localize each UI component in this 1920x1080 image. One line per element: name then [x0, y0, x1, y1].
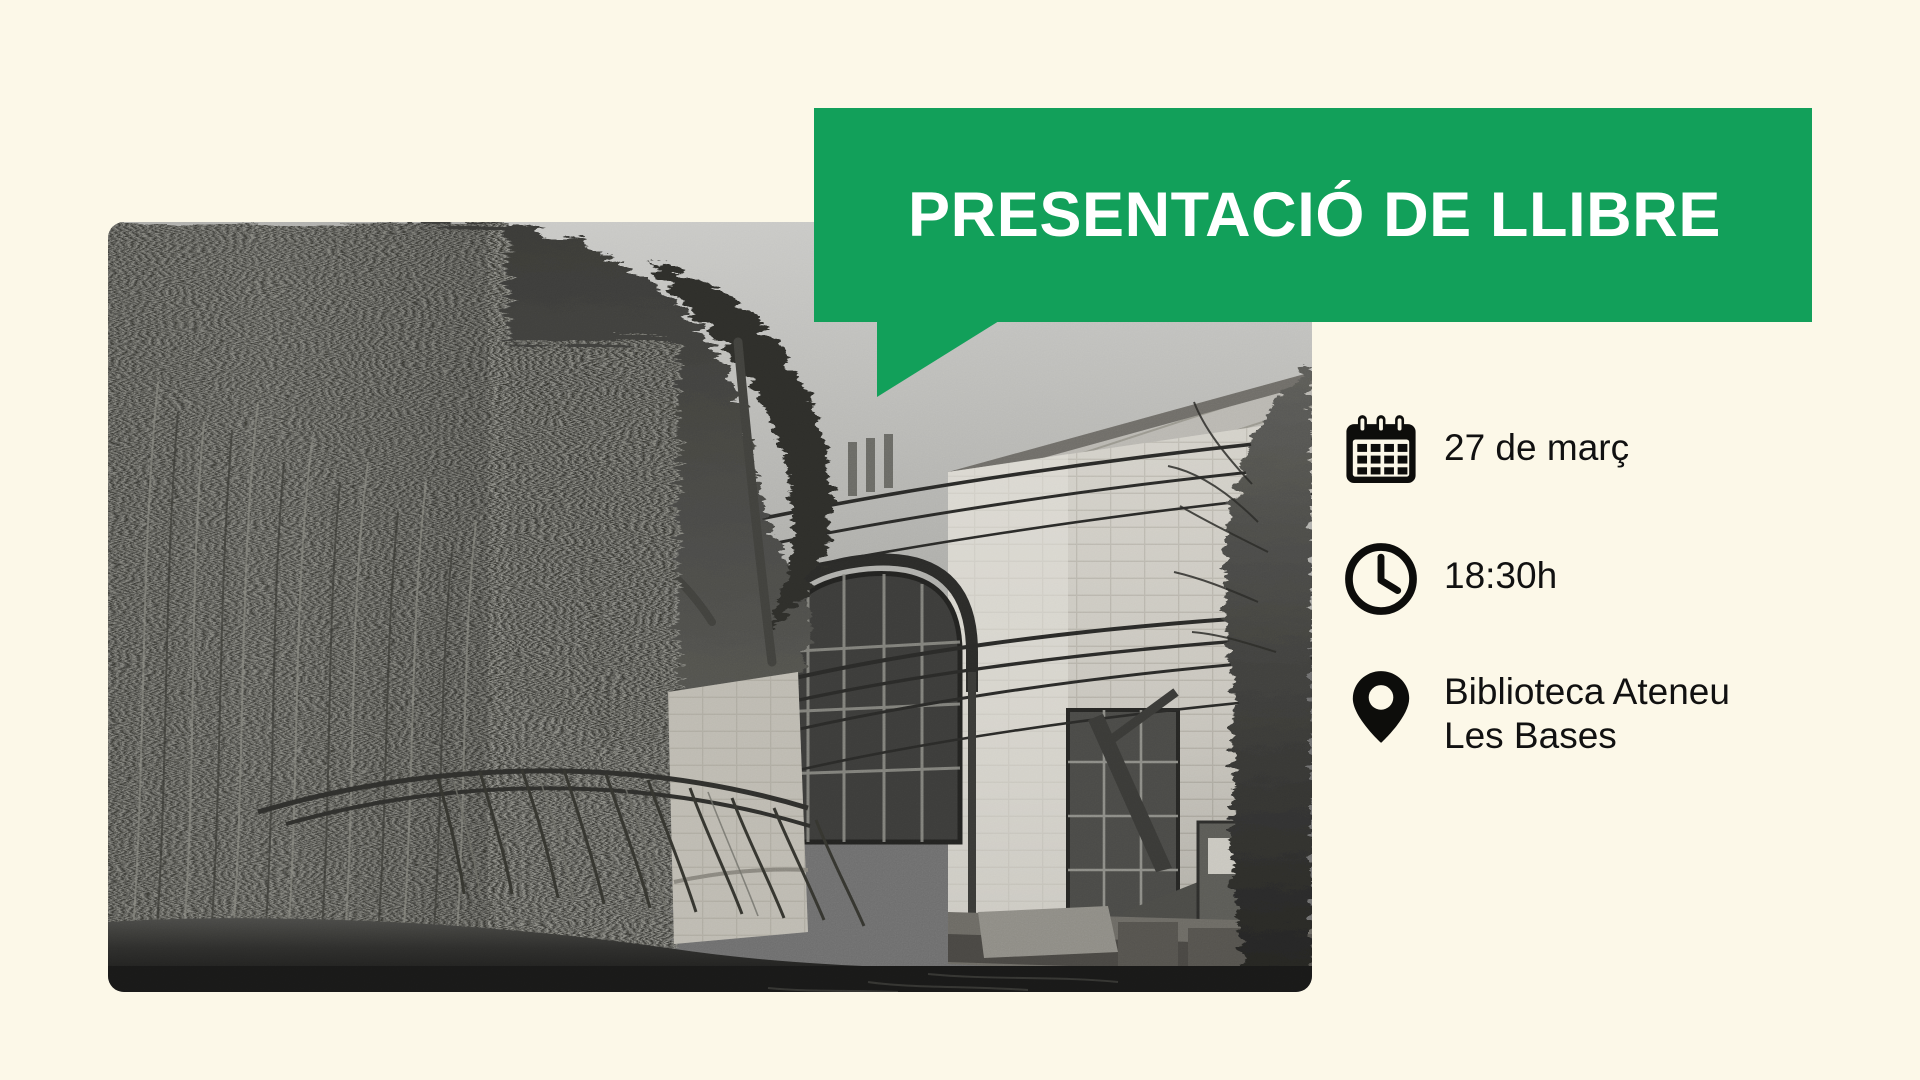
calendar-icon — [1340, 408, 1426, 494]
photo-illustration — [108, 222, 1312, 992]
detail-row-date: 27 de març — [1340, 408, 1860, 494]
page-title: PRESENTACIÓ DE LLIBRE — [908, 184, 1721, 247]
speech-bubble-tail-shape — [877, 321, 999, 397]
calendar-icon-shape — [1340, 410, 1422, 492]
event-poster: PRESENTACIÓ DE LLIBRE — [0, 0, 1920, 1080]
detail-time-text: 18:30h — [1426, 536, 1557, 598]
detail-date-text: 27 de març — [1426, 408, 1629, 470]
event-photo — [108, 222, 1312, 992]
event-details-list: 27 de març 18:30h Biblioteca Ateneu Les … — [1340, 408, 1860, 757]
clock-icon — [1340, 536, 1426, 622]
map-pin-icon — [1340, 664, 1426, 750]
detail-venue-text: Biblioteca Ateneu Les Bases — [1426, 664, 1730, 757]
speech-bubble-tail — [877, 321, 999, 397]
clock-icon-shape — [1340, 538, 1422, 620]
detail-row-venue: Biblioteca Ateneu Les Bases — [1340, 664, 1860, 757]
detail-row-time: 18:30h — [1340, 536, 1860, 622]
headline-banner: PRESENTACIÓ DE LLIBRE — [814, 108, 1812, 322]
map-pin-icon-shape — [1340, 666, 1422, 748]
